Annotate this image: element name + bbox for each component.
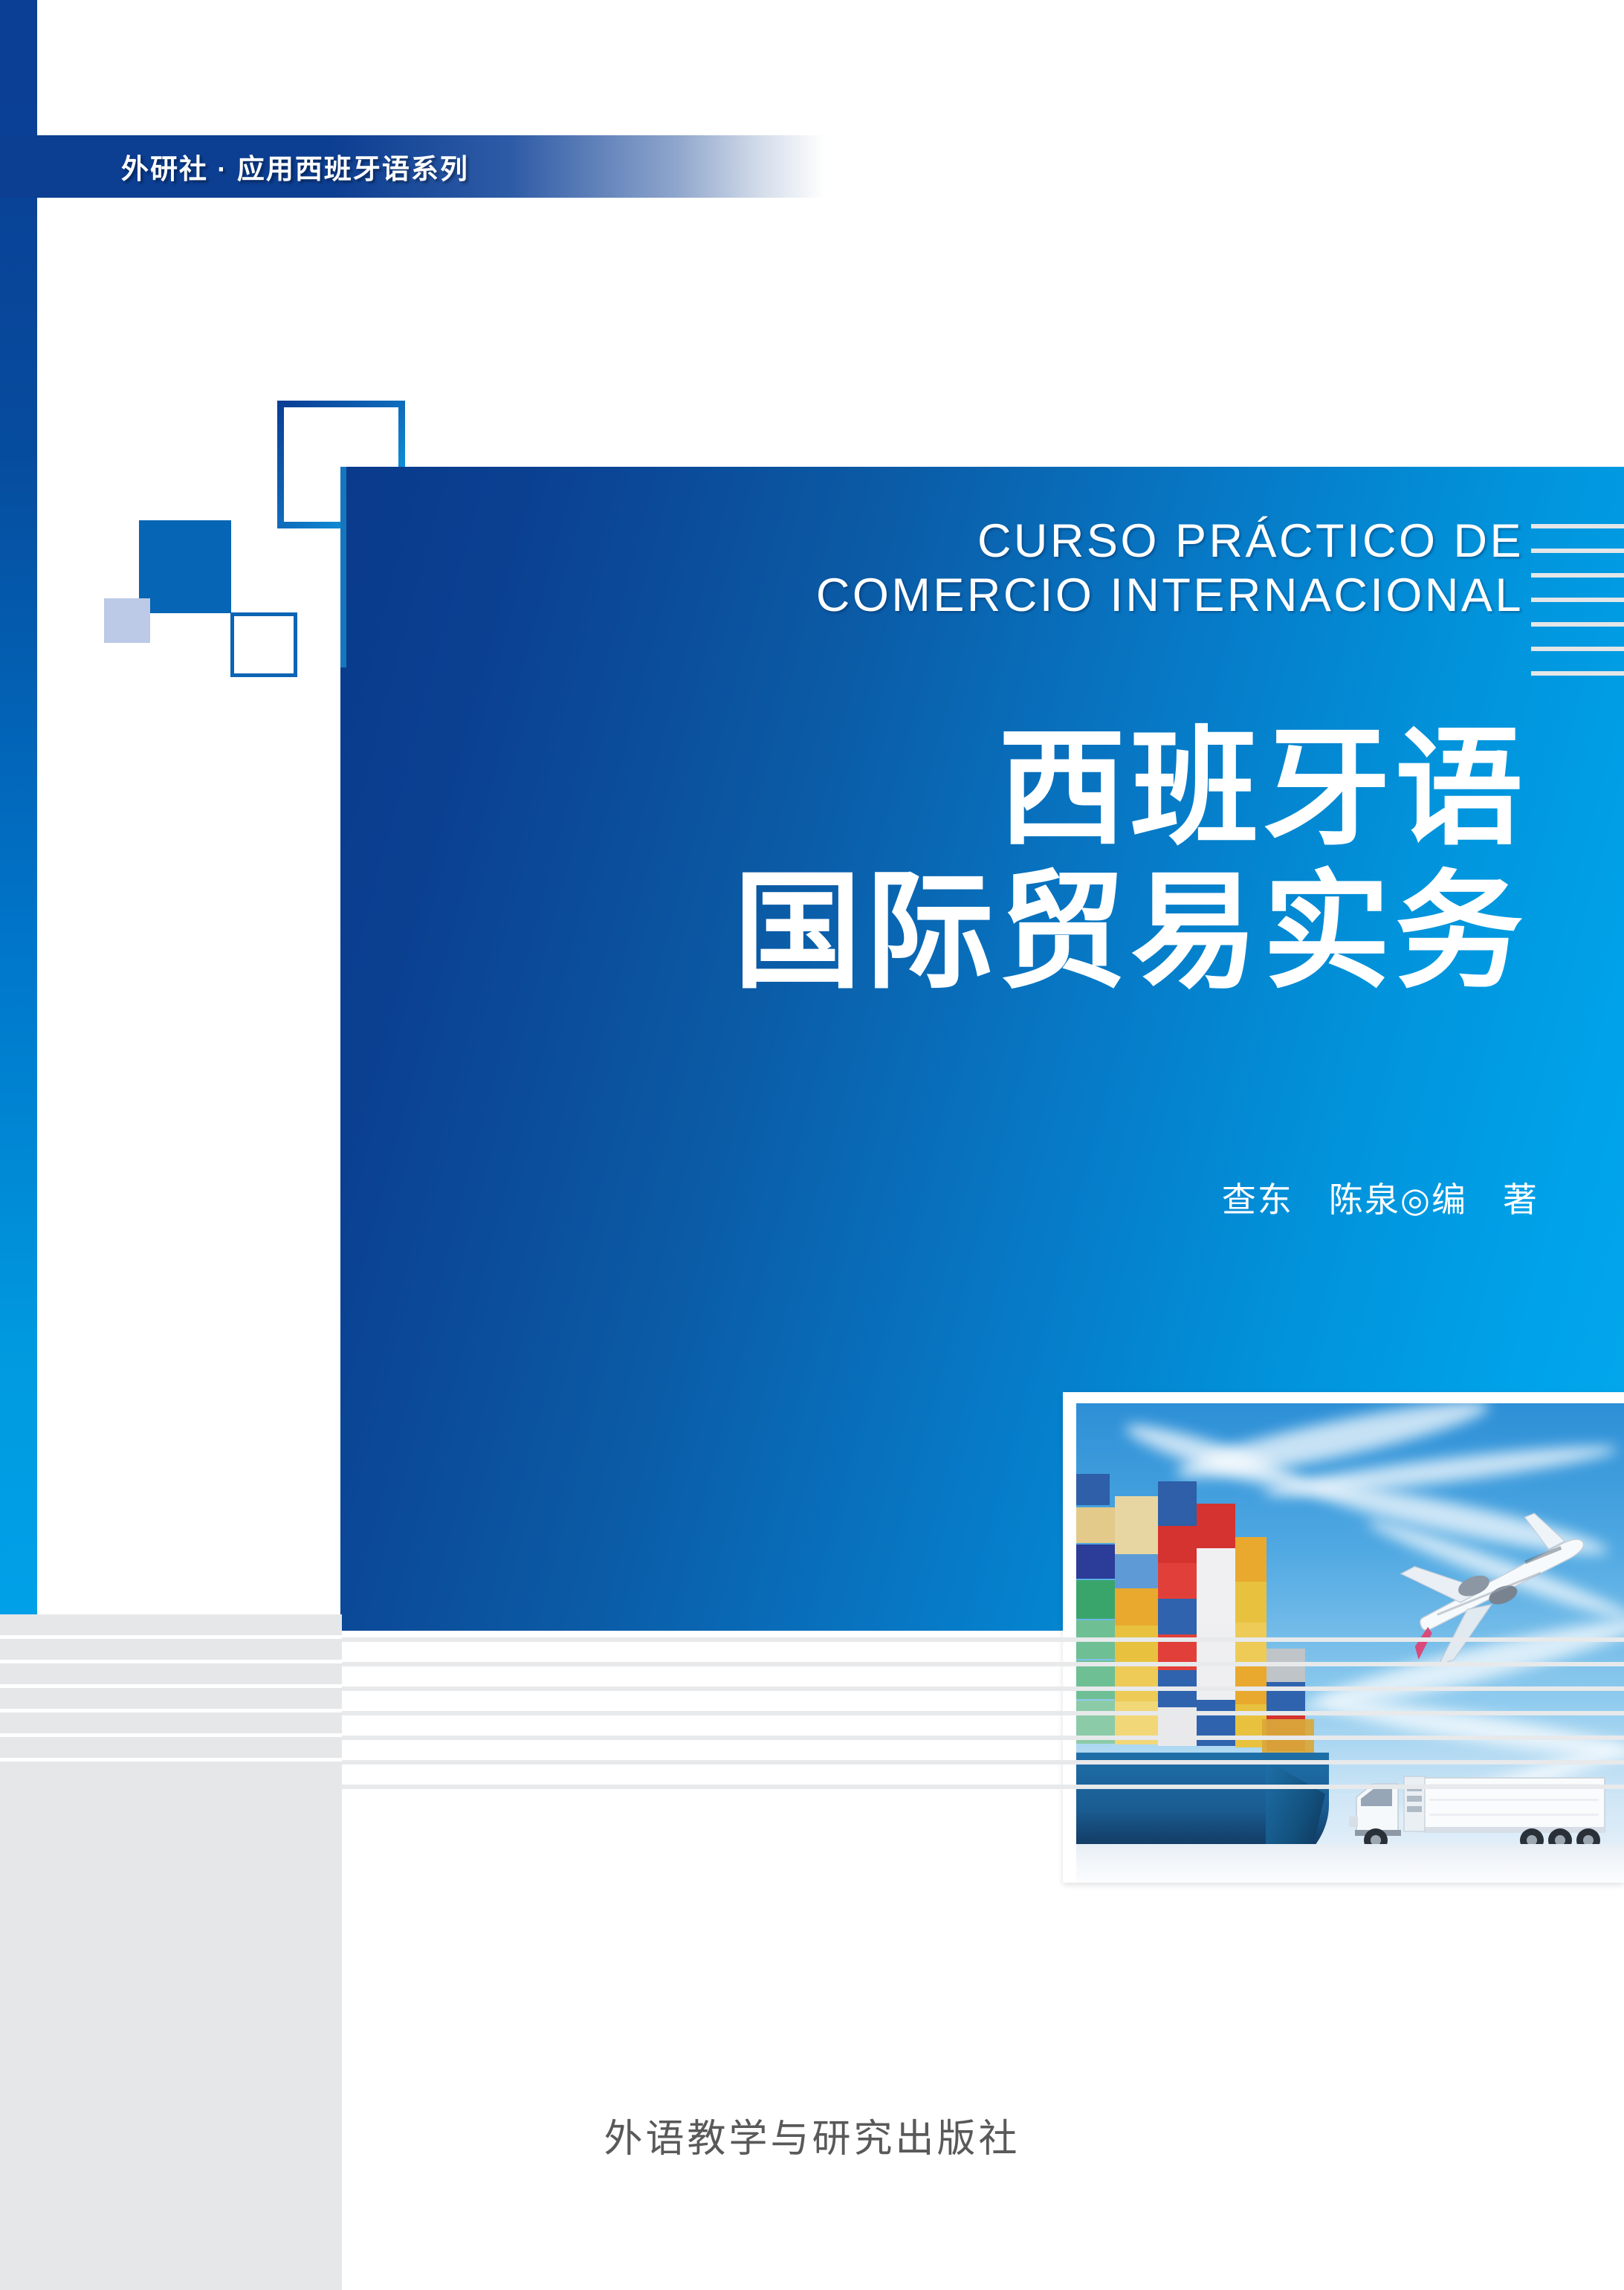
bottom-rule-right [342, 1637, 1624, 1642]
photo-ground-plane [1076, 1844, 1624, 1883]
chinese-title-line-1: 西班牙语 [342, 717, 1527, 861]
shipping-container [1158, 1526, 1197, 1563]
shipping-container [1235, 1582, 1266, 1623]
shipping-container [1158, 1481, 1197, 1526]
decor-rule-line [1531, 598, 1624, 602]
cover-photo [1076, 1403, 1624, 1883]
chinese-title-line-2: 国际贸易实务 [342, 861, 1527, 1004]
decor-rule-line [1531, 622, 1624, 627]
decor-rule-line [1531, 524, 1624, 528]
decor-rule-line [1531, 549, 1624, 553]
bottom-rule-right [342, 1760, 1624, 1765]
shipping-container [1076, 1580, 1115, 1619]
shipping-container [1115, 1496, 1158, 1554]
bottom-rule-right [342, 1686, 1624, 1691]
shipping-container [1115, 1663, 1158, 1701]
shipping-container [1158, 1599, 1197, 1634]
shipping-container [1115, 1554, 1158, 1588]
shipping-container [1158, 1563, 1197, 1599]
bottom-stripe-left [0, 1663, 342, 1684]
shipping-container [1076, 1474, 1110, 1505]
bottom-rule-right [342, 1662, 1624, 1666]
authors-line: 查东 陈泉◎编 著 [342, 1173, 1539, 1222]
shipping-container [1235, 1663, 1266, 1704]
series-banner-label: 外研社 · 应用西班牙语系列 [121, 146, 469, 187]
shipping-container [1235, 1537, 1266, 1582]
decor-rule-stack [1531, 524, 1624, 676]
decor-square-filled-light [104, 598, 150, 643]
series-banner: 外研社 · 应用西班牙语系列 [0, 135, 825, 198]
decor-rule-line [1531, 573, 1624, 578]
shipping-container [1197, 1624, 1235, 1661]
bottom-stripe-left-block [0, 1762, 342, 2290]
shipping-container [1235, 1623, 1266, 1663]
decor-square-filled-medium [139, 520, 231, 613]
bottom-stripe-left [0, 1639, 342, 1660]
decor-rule-line [1531, 671, 1624, 676]
shipping-container [1115, 1626, 1158, 1663]
publisher-name: 外语教学与研究出版社 [0, 2107, 1624, 2163]
page-title: 西班牙语 国际贸易实务 [342, 717, 1527, 1003]
shipping-container [1076, 1507, 1115, 1543]
decor-square-outline-small [230, 612, 297, 677]
panel-edge-highlight [340, 467, 346, 667]
bottom-rule-right [342, 1785, 1624, 1789]
bottom-stripe-left [0, 1614, 342, 1635]
shipping-container [1076, 1545, 1115, 1579]
spanish-title-line-2: COMERCIO INTERNACIONAL [349, 569, 1524, 623]
bottom-stripe-left [0, 1712, 342, 1733]
decor-rule-line [1531, 647, 1624, 651]
spanish-title-line-1: CURSO PRÁCTICO DE [349, 514, 1524, 569]
left-spine-bar [0, 0, 37, 1614]
shipping-container [1115, 1588, 1158, 1626]
bottom-rule-right [342, 1711, 1624, 1715]
shipping-container [1197, 1661, 1235, 1700]
spanish-title: CURSO PRÁCTICO DE COMERCIO INTERNACIONAL [349, 514, 1524, 623]
shipping-container [1197, 1504, 1235, 1548]
bottom-stripe-left [0, 1688, 342, 1709]
bottom-rule-right [342, 1736, 1624, 1740]
shipping-container [1197, 1587, 1235, 1624]
book-cover: 外研社 · 应用西班牙语系列 CURSO PRÁCTICO DE COMERCI… [0, 0, 1624, 2290]
bottom-stripe-left [0, 1737, 342, 1758]
shipping-container [1197, 1548, 1235, 1587]
